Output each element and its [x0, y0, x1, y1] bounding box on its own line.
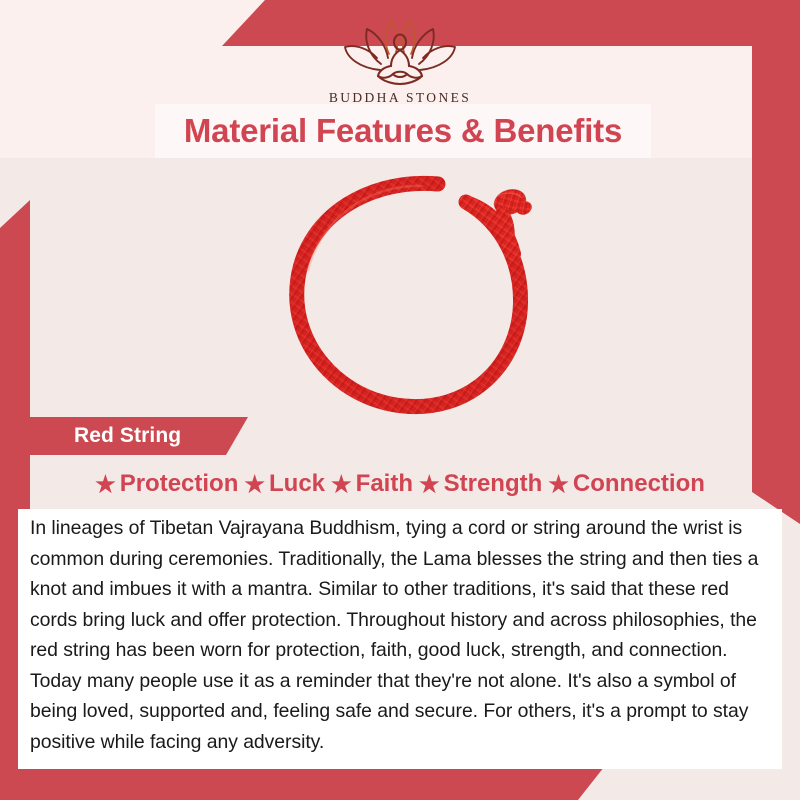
benefit-item-connection: ★ Connection	[548, 470, 705, 498]
product-name: Red String	[30, 424, 181, 448]
brand-logo: BUDDHA STONES	[0, 14, 800, 106]
red-string-bracelet-image	[252, 162, 572, 424]
star-icon: ★	[244, 473, 265, 496]
star-icon: ★	[419, 473, 440, 496]
description-text: In lineages of Tibetan Vajrayana Buddhis…	[30, 513, 768, 757]
product-infographic: BUDDHA STONES Material Features & Benefi…	[0, 0, 800, 800]
benefit-label: Protection	[120, 470, 239, 498]
benefit-label: Luck	[269, 470, 325, 498]
product-image-area	[30, 160, 752, 422]
benefits-list: ★ Protection ★ Luck ★ Faith ★ Strength ★…	[30, 466, 770, 502]
benefit-item-luck: ★ Luck	[244, 470, 325, 498]
description-panel: In lineages of Tibetan Vajrayana Buddhis…	[18, 509, 782, 769]
star-icon: ★	[95, 473, 116, 496]
benefit-item-strength: ★ Strength	[419, 470, 542, 498]
benefit-item-protection: ★ Protection	[95, 470, 238, 498]
benefit-item-faith: ★ Faith	[331, 470, 413, 498]
product-name-banner: Red String	[30, 417, 248, 455]
star-icon: ★	[548, 473, 569, 496]
benefit-label: Strength	[444, 470, 543, 498]
star-icon: ★	[331, 473, 352, 496]
page-title: Material Features & Benefits	[184, 112, 622, 150]
benefit-label: Faith	[356, 470, 413, 498]
benefit-label: Connection	[573, 470, 705, 498]
title-panel: Material Features & Benefits	[155, 104, 651, 158]
lotus-meditation-icon	[334, 14, 466, 86]
